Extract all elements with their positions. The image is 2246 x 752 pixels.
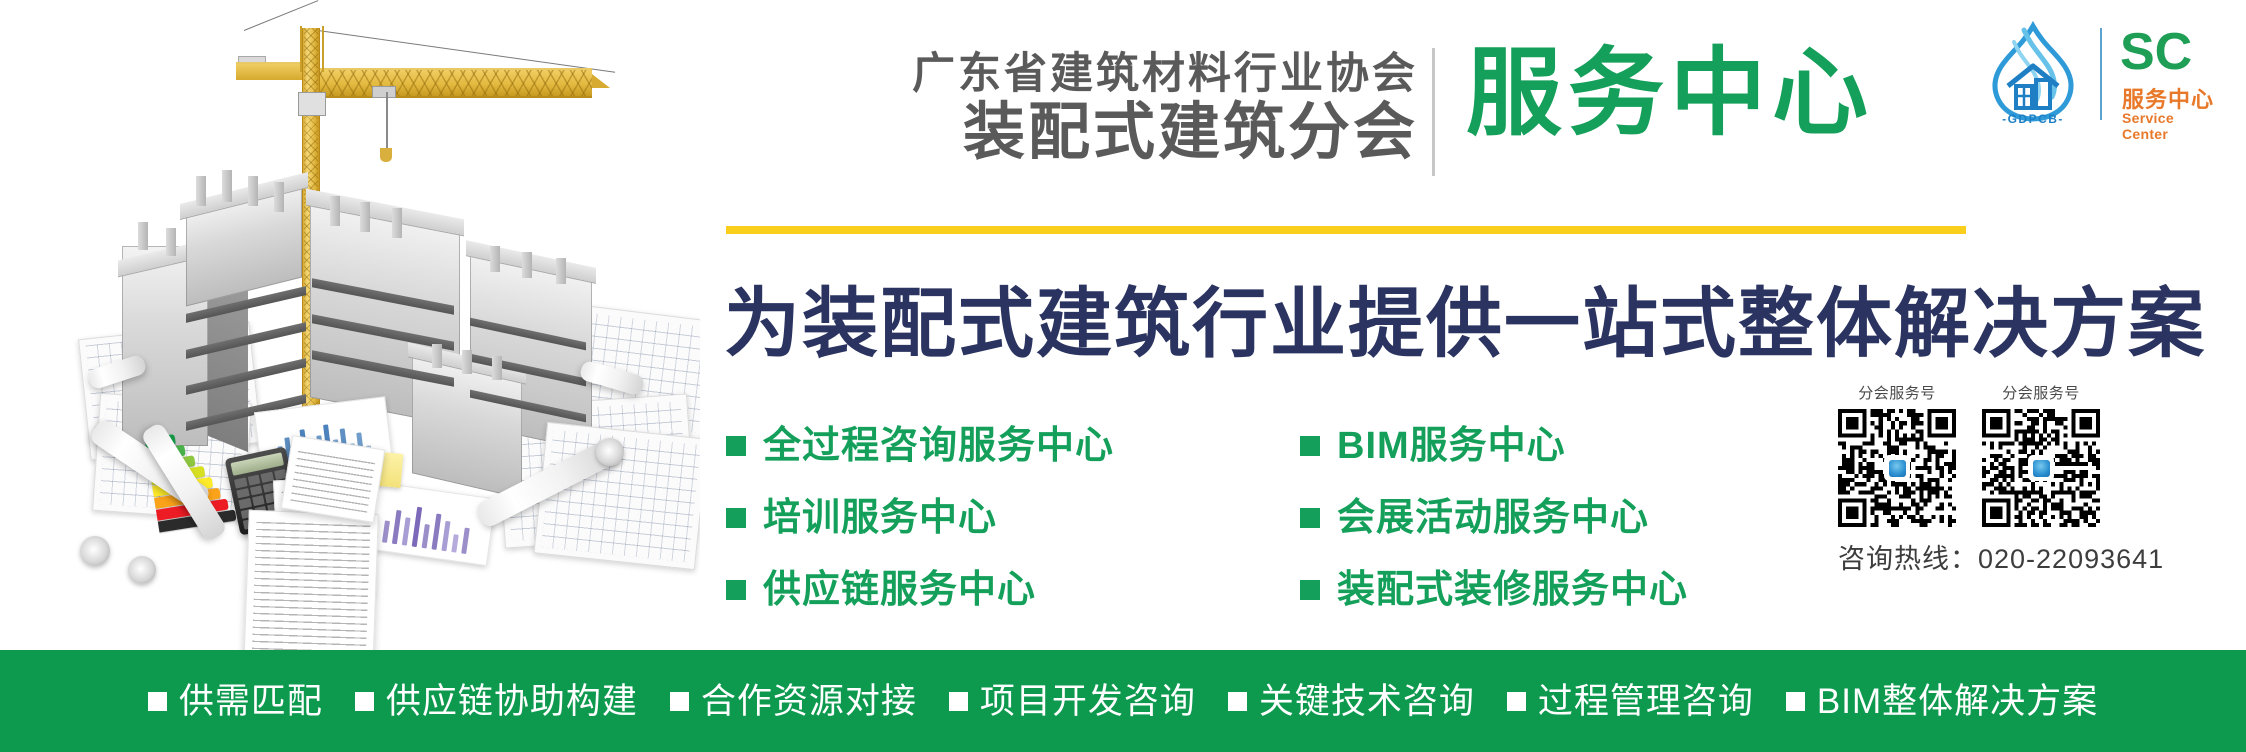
service-item-label: 供应链服务中心: [763, 571, 1036, 609]
service-item[interactable]: 供应链服务中心: [726, 554, 1114, 626]
crane-trolley-icon: [372, 86, 396, 98]
service-item[interactable]: 装配式装修服务中心: [1300, 554, 1688, 626]
service-item[interactable]: 全过程咨询服务中心: [726, 410, 1114, 482]
building-column: [432, 344, 442, 368]
bottom-bar-item[interactable]: 关键技术咨询: [1228, 684, 1475, 719]
yellow-divider-rule: [726, 226, 1966, 234]
contact-block: 分会服务号 分会服务号 咨询热线：020-22093641: [1838, 382, 2158, 576]
bottom-bar-item[interactable]: BIM整体解决方案: [1786, 684, 2098, 719]
qr-code-row: 分会服务号 分会服务号: [1838, 382, 2158, 527]
service-item-label: BIM服务中心: [1337, 427, 1566, 465]
association-name-block: 广东省建筑材料行业协会 装配式建筑分会: [838, 52, 1418, 165]
slogan-headline: 为装配式建筑行业提供一站式整体解决方案: [724, 262, 2206, 372]
blueprint-roll-end: [80, 536, 110, 566]
square-bullet-icon: [726, 436, 746, 456]
service-item-label: 培训服务中心: [763, 499, 997, 537]
association-name-line1: 广东省建筑材料行业协会: [838, 52, 1418, 98]
building-column: [462, 350, 472, 374]
square-bullet-icon: [1228, 692, 1247, 711]
square-bullet-icon: [726, 508, 746, 528]
square-bullet-icon: [1507, 692, 1526, 711]
association-name-line2: 装配式建筑分会: [838, 100, 1418, 165]
service-item-label: 会展活动服务中心: [1337, 499, 1649, 537]
service-item[interactable]: BIM服务中心: [1300, 410, 1688, 482]
service-item-label: 装配式装修服务中心: [1337, 571, 1688, 609]
bottom-bar-item-label: 供应链协助构建: [386, 684, 638, 719]
qr-code-caption: 分会服务号: [1838, 382, 1956, 403]
square-bullet-icon: [726, 580, 746, 600]
square-bullet-icon: [355, 692, 374, 711]
bottom-bar-item[interactable]: 过程管理咨询: [1507, 684, 1754, 719]
square-bullet-icon: [1300, 508, 1320, 528]
bottom-service-bar: 供需匹配 供应链协助构建 合作资源对接 项目开发咨询 关键技术咨询 过程管理咨询: [0, 650, 2246, 752]
square-bullet-icon: [1786, 692, 1805, 711]
banner-root: 广东省建筑材料行业协会 装配式建筑分会 服务中心 -GDPCB- SC 服务中心…: [0, 0, 2246, 752]
qr-code-image[interactable]: [1982, 409, 2100, 527]
building-column: [166, 228, 176, 256]
building-column: [274, 182, 284, 212]
bottom-bar-item[interactable]: 项目开发咨询: [949, 684, 1196, 719]
building-column: [222, 170, 232, 202]
bottom-bar-item-label: 合作资源对接: [701, 684, 917, 719]
bottom-bar-item-label: 供需匹配: [179, 684, 323, 719]
blueprint-roll-end: [128, 556, 156, 584]
blueprint-roll-end: [596, 438, 624, 466]
square-bullet-icon: [1300, 436, 1320, 456]
crane-hook-line-icon: [386, 92, 388, 150]
bottom-bar-item-label: BIM整体解决方案: [1817, 684, 2098, 719]
qr-center-logo-icon: [1884, 455, 1910, 481]
building-column: [392, 208, 402, 238]
bottom-bar-item-label: 项目开发咨询: [980, 684, 1196, 719]
bottom-bar-item[interactable]: 合作资源对接: [670, 684, 917, 719]
building-column: [492, 356, 502, 380]
qr-code-caption: 分会服务号: [1982, 382, 2100, 403]
building-column: [556, 258, 566, 284]
crane-cab-icon: [298, 92, 326, 116]
header-divider: [1432, 48, 1435, 176]
logo: -GDPCB- SC 服务中心 Service Center: [1978, 16, 2218, 142]
bottom-bar-item[interactable]: 供应链协助构建: [355, 684, 638, 719]
mortgage-application-document: [281, 435, 385, 523]
building-column: [138, 222, 148, 250]
qr-code-cell: 分会服务号: [1982, 382, 2100, 527]
square-bullet-icon: [670, 692, 689, 711]
logo-sc-english: Service Center: [2122, 110, 2218, 142]
logo-divider: [2100, 28, 2102, 120]
qr-center-logo-icon: [2028, 455, 2054, 481]
bottom-bar-item-label: 关键技术咨询: [1259, 684, 1475, 719]
square-bullet-icon: [1300, 580, 1320, 600]
logo-mark-text: -GDPCB-: [1980, 112, 2086, 126]
crane-hook-icon: [380, 148, 392, 162]
service-list-right: BIM服务中心 会展活动服务中心 装配式装修服务中心: [1300, 410, 1688, 626]
service-item[interactable]: 会展活动服务中心: [1300, 482, 1688, 554]
qr-code-image[interactable]: [1838, 409, 1956, 527]
qr-code-cell: 分会服务号: [1838, 382, 1956, 527]
bottom-items-row: 供需匹配 供应链协助构建 合作资源对接 项目开发咨询 关键技术咨询 过程管理咨询: [148, 684, 2098, 719]
building-column: [522, 252, 532, 278]
building-column: [330, 196, 340, 226]
square-bullet-icon: [949, 692, 968, 711]
building-column: [360, 202, 370, 232]
hotline-text: 咨询热线：020-22093641: [1838, 537, 2158, 576]
building-column: [196, 176, 206, 206]
mortgage-application-document: [243, 510, 379, 650]
logo-sc-text: SC: [2120, 26, 2192, 78]
crane-jib-tip-icon: [592, 74, 610, 88]
crane-jib-icon: [312, 68, 592, 98]
building-column: [490, 246, 500, 272]
building-column: [248, 176, 258, 206]
square-bullet-icon: [148, 692, 167, 711]
service-item[interactable]: 培训服务中心: [726, 482, 1114, 554]
hero-construction-image: [0, 0, 700, 650]
bottom-bar-item[interactable]: 供需匹配: [148, 684, 323, 719]
bottom-bar-item-label: 过程管理咨询: [1538, 684, 1754, 719]
service-list-left: 全过程咨询服务中心 培训服务中心 供应链服务中心: [726, 410, 1114, 626]
service-item-label: 全过程咨询服务中心: [763, 427, 1114, 465]
page-title: 服务中心: [1466, 44, 1874, 145]
